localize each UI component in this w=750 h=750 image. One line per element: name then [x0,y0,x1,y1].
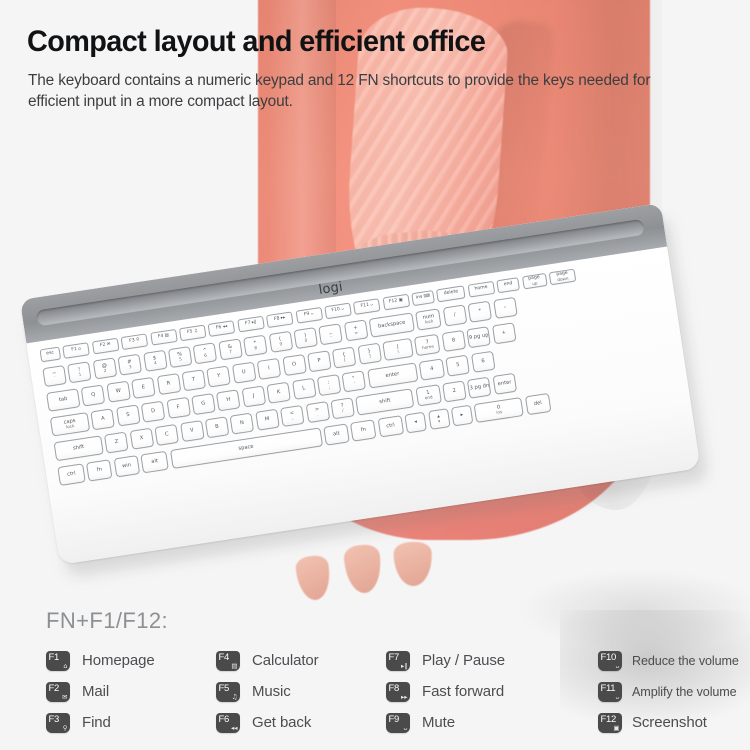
keycap: :; [317,374,342,396]
keycap: F9ᴗ [295,307,323,324]
keycap: F6◂◂ [208,320,236,337]
keycap: |\ [382,338,414,361]
fn-key-label: F3 [49,715,60,725]
fn-key-badge-f6: F6◂◂ [216,713,240,733]
fn-key-badge-f8: F8▸▸ [386,682,410,702]
keycap: esc [39,347,61,363]
keycap: enter [367,362,418,388]
mail-icon: ✉ [62,694,67,701]
fn-shortcut-label: Fast forward [422,683,504,700]
keycap: C [155,424,180,446]
keycap: del [525,393,552,415]
keycap: }] [357,343,382,365]
keycap: capslock [50,412,90,436]
keycap: F7▸‖ [237,316,265,333]
keycap-glyph: ᴗ [341,308,344,313]
fn-shortcut-item: F1⌂Homepage [46,645,155,676]
hand-finger-3 [393,541,433,586]
keycap-glyph: ⌂ [78,347,81,352]
fn-shortcut-label: Get back [252,714,311,731]
keycap: F1⌂ [63,342,91,359]
keycap-glyph: ⚲ [136,339,140,344]
play-pause-icon: ▸‖ [401,663,408,670]
keycap: U [232,362,257,384]
keycap: fn [350,419,377,441]
keycap: B [205,416,230,438]
keycap: * [468,301,493,323]
keycap: F4▤ [150,329,178,346]
keycap: F11ᴗ [353,298,381,315]
keycap: 7home [414,334,441,356]
fn-shortcut-column-4: F10ᴗReduce the volumeF11ᴗAmplify the vol… [598,645,739,738]
fn-shortcut-label: Calculator [252,652,319,669]
fn-shortcut-item: F3⚲Find [46,707,155,738]
fn-key-badge-f9: F9ᴗ [386,713,410,733]
keycap: &7 [218,338,243,360]
keycap: @2 [93,357,118,379]
keycap: shift [355,388,414,415]
fn-shortcut-column-3: F7▸‖Play / PauseF8▸▸Fast forwardF9ᴗMute [386,645,505,738]
fn-key-label: F1 [49,653,60,663]
mute-icon: ᴗ [404,725,408,732]
keycap: X [129,428,154,450]
keycap: L [292,378,317,400]
fn-shortcut-column-2: F4▤CalculatorF5♫MusicF6◂◂Get back [216,645,319,738]
keycap: T [181,369,206,391]
keycap: backspace [369,312,415,337]
keycap: enter [492,373,517,395]
keycap: F5♫ [179,325,207,342]
keycap: G [191,393,216,415]
fn-shortcut-column-1: F1⌂HomepageF2✉MailF3⚲Find [46,645,155,738]
keycap: Z [104,431,129,453]
keycap: alt [140,451,169,474]
keycap: O [282,354,307,376]
fn-key-badge-f7: F7▸‖ [386,651,410,671]
fn-key-badge-f4: F4▤ [216,651,240,671]
keycap: 2 [442,380,467,402]
screenshot-icon: ▣ [613,725,619,732]
keycap: shift [54,435,104,461]
keycap: ?/ [330,397,355,419]
keycap: ins⌨ [411,290,435,306]
search-icon: ⚲ [63,725,68,732]
keycap: ctrl [377,415,404,437]
fn-key-label: F2 [49,684,60,694]
keycap: ctrl [57,463,86,486]
fn-shortcut-label: Mail [82,683,109,700]
fn-key-badge-f2: F2✉ [46,682,70,702]
keycap-glyph: ▣ [399,299,404,304]
keycap: _- [318,323,343,345]
keycap: A [91,408,116,430]
keycap: / [443,304,468,326]
hand-finger-2 [343,544,383,595]
fn-shortcut-item: F8▸▸Fast forward [386,676,505,707]
keycap: F2✉ [92,338,120,355]
keycap: pagedown [549,269,577,286]
keycap: J [241,385,266,407]
keycap: Q [81,384,106,406]
keycap: 5 [446,355,471,377]
fn-shortcut-item: F11ᴗAmplify the volume [598,676,739,707]
fn-shortcut-label: Music [252,683,291,700]
fn-key-badge-f1: F1⌂ [46,651,70,671]
fn-key-badge-f12: F12▣ [598,713,622,733]
keycap: += [344,319,369,341]
product-feature-page: logi escF1⌂F2✉F3⚲F4▤F5♫F6◂◂F7▸‖F8▸▸F9ᴗF1… [0,0,750,750]
keycap: F10ᴗ [324,303,352,320]
fn-key-label: F9 [389,715,400,725]
fn-key-badge-f10: F10ᴗ [598,651,622,671]
fn-shortcut-label: Play / Pause [422,652,505,669]
calculator-icon: ▤ [231,663,237,670]
music-note-icon: ♫ [232,694,238,701]
keycap: M [255,409,280,431]
keycap: alt [323,423,350,445]
keycap: #3 [118,354,143,376]
keycap: {[ [332,346,357,368]
hand-finger-1 [294,554,332,602]
fn-shortcut-item: F12▣Screenshot [598,707,739,738]
keycap: K [266,382,291,404]
page-description: The keyboard contains a numeric keypad a… [28,70,668,112]
keycap: ◂ [404,412,427,434]
fn-shortcut-label: Find [82,714,111,731]
fn-key-label: F11 [601,684,616,694]
keycap: tab [46,388,80,412]
keycap: H [216,389,241,411]
fn-shortcut-item: F2✉Mail [46,676,155,707]
product-photo: logi escF1⌂F2✉F3⚲F4▤F5♫F6◂◂F7▸‖F8▸▸F9ᴗF1… [0,0,750,750]
keycap-glyph: ▸▸ [281,317,286,322]
fn-key-badge-f3: F3⚲ [46,713,70,733]
fn-shortcut-label: Mute [422,714,455,731]
keycap: F [166,397,191,419]
keycap: end [497,277,521,293]
keycap: N [230,412,255,434]
keycap: 6 [471,351,496,373]
fn-key-label: F6 [219,715,230,725]
keycap: ^6 [193,342,218,364]
keycap: ▸ [451,405,474,427]
volume-down-icon: ᴗ [616,663,620,670]
keycap: Y [207,365,232,387]
fn-shortcuts-heading: FN+F1/F12: [46,608,168,634]
keycap: numlock [416,308,443,330]
keycap: D [141,401,166,423]
fn-key-label: F5 [219,684,230,694]
keycap: pageup [522,273,548,289]
keycap: V [180,420,205,442]
keycap: E [131,377,156,399]
keycap: !1 [67,361,92,383]
keycap: S [116,404,141,426]
keycap-glyph: ᴗ [311,312,314,317]
keycap-glyph: ⌨ [424,295,431,301]
keycap: ▴▾ [428,408,451,430]
keycap: 4 [419,358,446,380]
volume-up-icon: ᴗ [616,694,620,701]
fn-shortcut-label: Screenshot [632,714,707,731]
keycap: + [492,322,517,344]
keycap-glyph: ♫ [194,330,199,335]
fast-forward-icon: ▸▸ [401,694,408,701]
keycap: F8▸▸ [266,311,294,328]
keycap-glyph: ▤ [165,334,170,339]
keycap: W [106,381,131,403]
keycap: (9 [268,331,293,353]
fn-shortcut-item: F7▸‖Play / Pause [386,645,505,676]
keycap: )0 [293,327,318,349]
fn-shortcut-item: F10ᴗReduce the volume [598,645,739,676]
fn-shortcut-item: F9ᴗMute [386,707,505,738]
keycap: $4 [143,350,168,372]
fn-shortcut-label: Homepage [82,652,155,669]
fn-key-badge-f11: F11ᴗ [598,682,622,702]
keycap: F12▣ [382,294,410,311]
keycap: R [156,373,181,395]
fn-key-label: F7 [389,653,400,663]
fn-shortcut-label: Amplify the volume [632,685,737,699]
keycap: fn [86,459,113,481]
keycap: I [257,358,282,380]
keycap: P [307,350,332,372]
fn-key-label: F8 [389,684,400,694]
fn-key-label: F10 [601,653,616,663]
keycap-glyph: ✉ [107,343,111,348]
keycap: >. [305,401,330,423]
fn-key-label: F4 [219,653,230,663]
keycap: 1end [415,384,442,406]
fn-shortcut-label: Reduce the volume [632,654,739,668]
keycap: 3 pg dn [467,377,492,399]
keycap: 8 [441,330,466,352]
keycap-glyph: ▸‖ [252,321,257,326]
keycap: delete [436,285,466,302]
keycap: ~` [42,365,67,387]
keycap: win [113,455,140,477]
fn-shortcut-item: F4▤Calculator [216,645,319,676]
fn-shortcut-item: F5♫Music [216,676,319,707]
keycap: %5 [168,346,193,368]
fn-shortcut-item: F6◂◂Get back [216,707,319,738]
keycap: – [493,297,518,319]
keycap: "' [342,370,367,392]
fn-key-badge-f5: F5♫ [216,682,240,702]
keycap-glyph: ◂◂ [223,325,228,330]
rewind-icon: ◂◂ [231,725,238,732]
keycap: home [467,281,495,298]
keyboard: logi escF1⌂F2✉F3⚲F4▤F5♫F6◂◂F7▸‖F8▸▸F9ᴗF1… [20,201,717,596]
keycap: *8 [243,335,268,357]
keycap: 9 pg up [467,326,492,348]
keycap: <, [280,405,305,427]
keycap: 0ins [474,397,524,423]
keycap: F3⚲ [121,333,149,350]
keyboard-body: logi escF1⌂F2✉F3⚲F4▤F5♫F6◂◂F7▸‖F8▸▸F9ᴗF1… [20,203,701,565]
home-icon: ⌂ [63,663,67,670]
keycap-glyph: ᴗ [370,303,373,308]
page-title: Compact layout and efficient office [27,25,485,59]
